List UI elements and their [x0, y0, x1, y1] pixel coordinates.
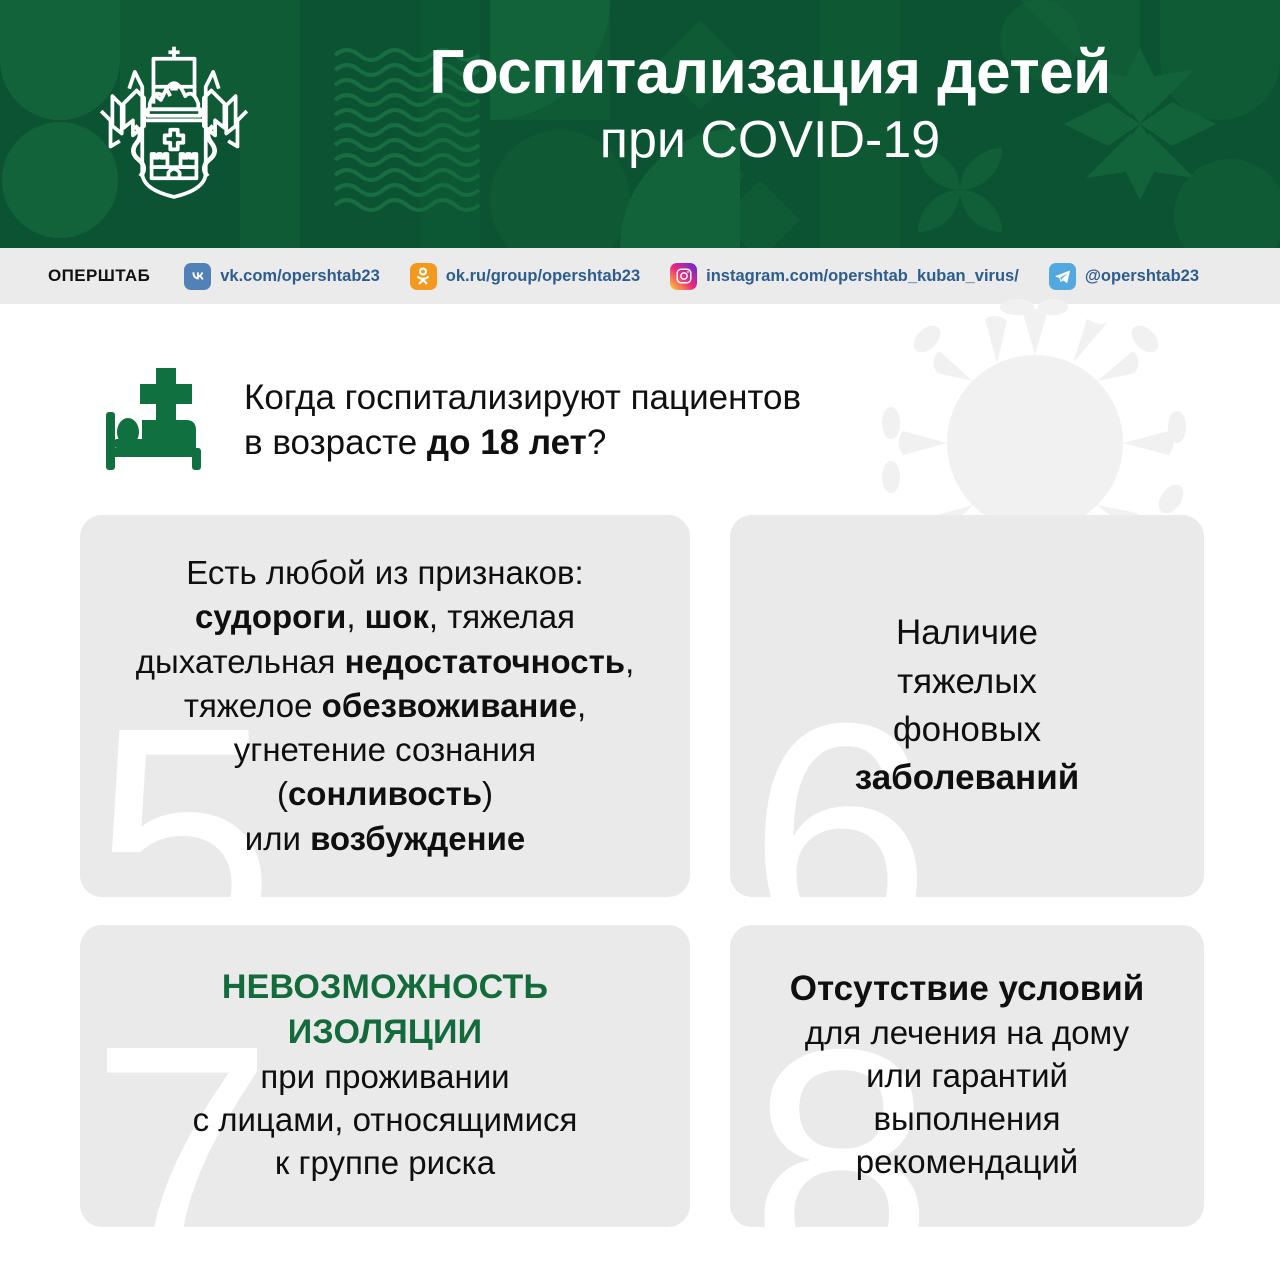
social-link-label: ok.ru/group/opershtab23	[446, 267, 640, 286]
card-text-run: угнетение сознания	[234, 731, 536, 768]
card-text-run: сонливость	[288, 775, 482, 812]
page-subtitle: при COVID-19	[330, 111, 1210, 169]
question-age-limit: до 18 лет	[427, 423, 587, 462]
card-text-run: Есть любой из признаков:	[186, 554, 583, 591]
card-text-run: дыхательная	[136, 643, 345, 680]
card-text-run: ,	[346, 598, 364, 635]
card-text-run: выполнения	[873, 1100, 1060, 1137]
card-text-run: недостаточность	[345, 643, 626, 680]
social-link-ok[interactable]: ok.ru/group/opershtab23	[410, 263, 640, 290]
criteria-card-7: 7 НЕВОЗМОЖНОСТЬ ИЗОЛЯЦИИ при проживании …	[80, 925, 690, 1227]
instagram-icon	[670, 263, 697, 290]
card-line: к группе риска	[98, 1142, 672, 1185]
question-line-1: Когда госпитализируют пациентов	[244, 375, 801, 421]
card-line: Есть любой из признаков:	[98, 551, 672, 595]
card-line: угнетение сознания	[98, 728, 672, 772]
card-text-run: тяжелое	[184, 687, 322, 724]
card-text: Есть любой из признаков: судороги, шок, …	[98, 551, 672, 861]
card-line: фоновых	[748, 706, 1186, 754]
card-line: с лицами, относящимися	[98, 1099, 672, 1142]
card-text-run: судороги	[195, 598, 346, 635]
card-line: выполнения	[748, 1098, 1186, 1141]
card-text: Наличие тяжелых фоновых заболеваний	[748, 609, 1186, 802]
card-text-run: при проживании	[260, 1058, 509, 1095]
social-link-label: instagram.com/opershtab_kuban_virus/	[706, 267, 1019, 286]
odnoklassniki-icon	[410, 263, 437, 290]
social-links-bar: ОПЕРШТАБ vk.com/opershtab23 ok.ru/group/…	[0, 248, 1280, 304]
vk-icon	[184, 263, 211, 290]
page-title: Госпитализация детей	[330, 40, 1210, 105]
card-text-run: Наличие	[896, 613, 1038, 652]
criteria-card-6: 6 Наличие тяжелых фоновых заболеваний	[730, 515, 1204, 897]
question-text: Когда госпитализируют пациентов в возрас…	[244, 375, 801, 466]
hospital-bed-icon	[100, 368, 212, 472]
social-link-label: @opershtab23	[1085, 267, 1199, 286]
card-text-run: для лечения на дому	[805, 1014, 1129, 1051]
social-link-telegram[interactable]: @opershtab23	[1049, 263, 1199, 290]
card-text-run: тяжелых	[897, 662, 1037, 701]
question-line-2: в возрасте до 18 лет?	[244, 420, 801, 466]
social-link-label: vk.com/opershtab23	[220, 267, 380, 286]
card-text-run: или	[245, 820, 310, 857]
social-link-vk[interactable]: vk.com/opershtab23	[184, 263, 380, 290]
card-line: или возбуждение	[98, 817, 672, 861]
card-text-run: (	[277, 775, 288, 812]
card-text-run: фоновых	[893, 710, 1041, 749]
card-line: тяжелое обезвоживание,	[98, 684, 672, 728]
card-line: при проживании	[98, 1056, 672, 1099]
card-line: заболеваний	[748, 754, 1186, 802]
card-text-run: с лицами, относящимися	[193, 1101, 578, 1138]
card-highlight-line: НЕВОЗМОЖНОСТЬ	[98, 967, 672, 1008]
question-line-2-suffix: ?	[587, 423, 606, 462]
card-text-run: ,	[625, 643, 634, 680]
card-line: тяжелых	[748, 658, 1186, 706]
card-line: рекомендаций	[748, 1141, 1186, 1184]
card-line: судороги, шок, тяжелая	[98, 595, 672, 639]
krasnodar-krai-coat-of-arms-icon	[78, 42, 270, 210]
card-text: Отсутствие условий для лечения на дому и…	[748, 968, 1186, 1183]
criteria-card-grid: 5 Есть любой из признаков: судороги, шок…	[80, 515, 1204, 1227]
question-line-2-prefix: в возрасте	[244, 423, 427, 462]
card-text-run: возбуждение	[310, 820, 525, 857]
header-title-block: Госпитализация детей при COVID-19	[330, 40, 1210, 169]
card-line: дыхательная недостаточность,	[98, 640, 672, 684]
question-block: Когда госпитализируют пациентов в возрас…	[100, 360, 1080, 480]
criteria-card-5: 5 Есть любой из признаков: судороги, шок…	[80, 515, 690, 897]
card-highlight-line: Отсутствие условий	[748, 968, 1186, 1011]
card-line: или гарантий	[748, 1055, 1186, 1098]
card-text-run: )	[482, 775, 493, 812]
card-text: НЕВОЗМОЖНОСТЬ ИЗОЛЯЦИИ при проживании с …	[98, 967, 672, 1185]
card-text-run: рекомендаций	[856, 1143, 1079, 1180]
card-text-run: заболеваний	[855, 758, 1079, 797]
card-text-run: , тяжелая	[429, 598, 575, 635]
criteria-card-8: 8 Отсутствие условий для лечения на дому…	[730, 925, 1204, 1227]
brand-label: ОПЕРШТАБ	[48, 266, 150, 286]
card-text-run: ,	[577, 687, 586, 724]
card-line: для лечения на дому	[748, 1012, 1186, 1055]
card-text-run: к группе риска	[275, 1144, 495, 1181]
card-text-run: обезвоживание	[322, 687, 577, 724]
card-text-run: или гарантий	[866, 1057, 1068, 1094]
social-link-instagram[interactable]: instagram.com/opershtab_kuban_virus/	[670, 263, 1019, 290]
telegram-icon	[1049, 263, 1076, 290]
card-text-run: шок	[365, 598, 429, 635]
page-header: Госпитализация детей при COVID-19	[0, 0, 1280, 248]
card-line: (сонливость)	[98, 772, 672, 816]
card-line: Наличие	[748, 609, 1186, 657]
card-highlight-line: ИЗОЛЯЦИИ	[98, 1012, 672, 1053]
